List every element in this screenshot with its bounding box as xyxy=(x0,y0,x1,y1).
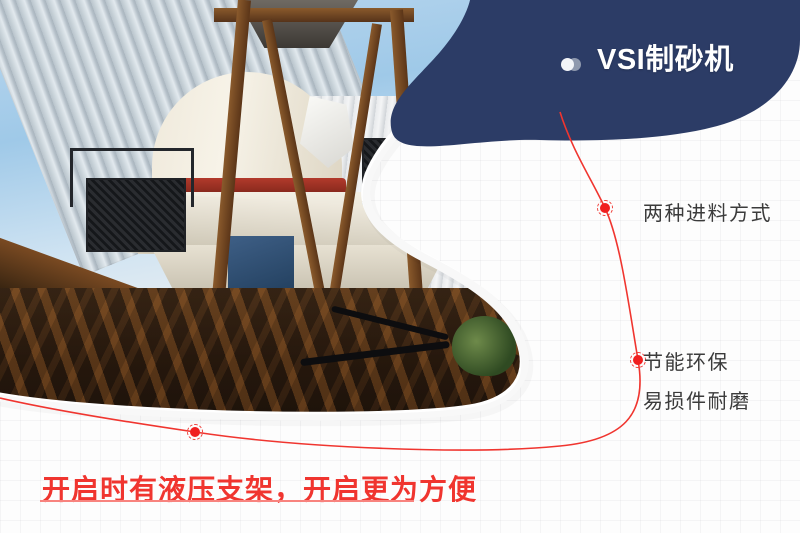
foliage xyxy=(452,316,516,376)
annotation-dot-hydraulic[interactable] xyxy=(187,424,203,440)
page-title: VSI制砂机 xyxy=(597,36,734,78)
blue-equipment-box xyxy=(228,236,294,292)
feature-label-feeding: 两种进料方式 xyxy=(643,197,772,226)
toggle-dot-icon xyxy=(561,58,583,71)
platform-railing-right xyxy=(420,98,514,155)
machine-photo xyxy=(0,0,800,533)
caption-underline xyxy=(40,500,414,502)
feature-label-energy-saving: 节能环保 xyxy=(643,346,729,375)
feature-label-wear-parts: 易损件耐磨 xyxy=(643,385,751,414)
caption-text: 开启时有液压支架，开启更为方便 xyxy=(42,468,477,508)
annotation-dot-feed[interactable] xyxy=(597,200,613,216)
machine-photo-content xyxy=(0,0,520,420)
rusty-understructure xyxy=(0,288,520,420)
mesh-guard-right xyxy=(362,138,482,202)
promo-banner: VSI制砂机 两种进料方式 节能环保 易损件耐磨 开启时有液压支架，开启更为方便 xyxy=(0,0,800,533)
mesh-guard-left xyxy=(86,178,186,252)
